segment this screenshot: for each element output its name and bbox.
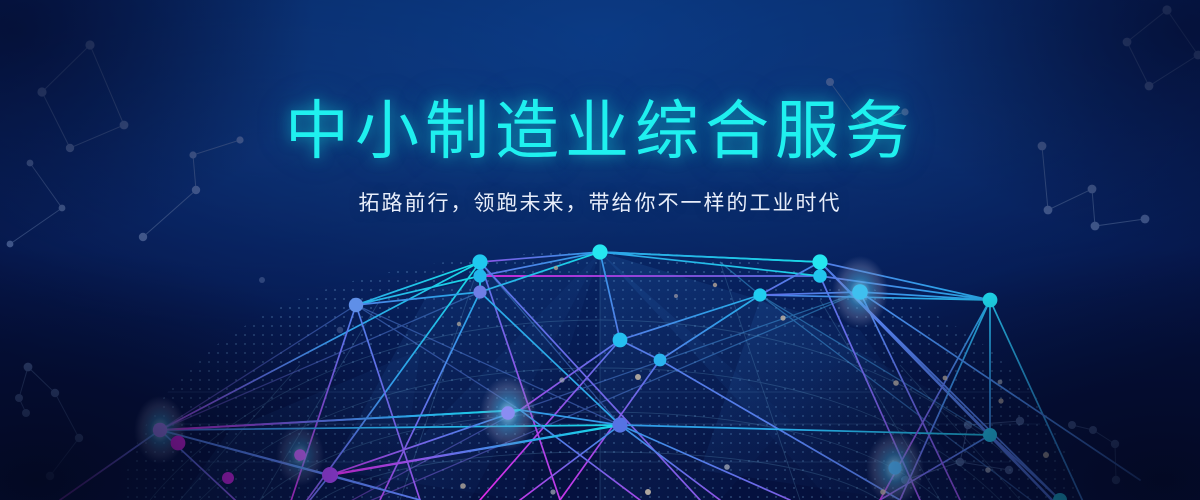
banner-root: 中小制造业综合服务 拓路前行，领跑未来，带给你不一样的工业时代: [0, 0, 1200, 500]
hero-text-block: 中小制造业综合服务 拓路前行，领跑未来，带给你不一样的工业时代: [0, 98, 1200, 217]
background-vignette: [0, 0, 1200, 500]
banner-title: 中小制造业综合服务: [0, 98, 1200, 165]
banner-subtitle: 拓路前行，领跑未来，带给你不一样的工业时代: [0, 187, 1200, 217]
